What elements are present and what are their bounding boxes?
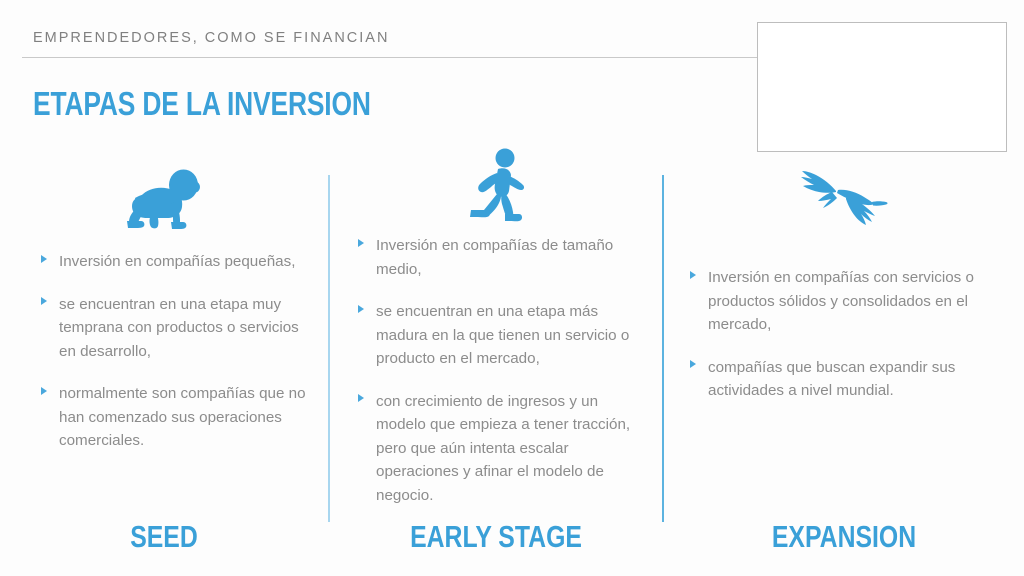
bullet-text: se encuentran en una etapa muy temprana …: [59, 296, 299, 360]
bullet-list-early-stage: Inversión en compañías de tamaño medio, …: [354, 234, 652, 507]
triangle-bullet-icon: [41, 255, 47, 263]
slide-eyebrow-heading: EMPRENDEDORES, COMO SE FINANCIAN: [33, 30, 389, 46]
bullet-text: se encuentran en una etapa más madura en…: [376, 303, 629, 367]
logo-placeholder-box: [757, 22, 1007, 152]
bullet-text: Inversión en compañías pequeñas,: [59, 253, 295, 270]
crawling-baby-icon: [0, 168, 328, 240]
page-title: ETAPAS DE LA INVERSION: [33, 85, 371, 123]
triangle-bullet-icon: [690, 360, 696, 368]
bullet-text: compañías que buscan expandir sus activi…: [708, 359, 955, 400]
list-item: compañías que buscan expandir sus activi…: [686, 356, 974, 403]
stage-label-early-stage: EARLY STAGE: [363, 519, 629, 555]
list-item: Inversión en compañías de tamaño medio,: [354, 234, 652, 281]
bullet-text: normalmente son compañías que no han com…: [59, 385, 306, 449]
triangle-bullet-icon: [41, 387, 47, 395]
bullet-text: Inversión en compañías con servicios o p…: [708, 269, 974, 333]
triangle-bullet-icon: [358, 305, 364, 313]
bullet-list-expansion: Inversión en compañías con servicios o p…: [686, 266, 974, 403]
triangle-bullet-icon: [358, 239, 364, 247]
list-item: Inversión en compañías con servicios o p…: [686, 266, 974, 337]
bullet-text: Inversión en compañías de tamaño medio,: [376, 237, 613, 278]
stage-column-seed: Inversión en compañías pequeñas, se encu…: [0, 168, 328, 453]
bullet-list-seed: Inversión en compañías pequeñas, se encu…: [37, 250, 310, 453]
list-item: con crecimiento de ingresos y un modelo …: [354, 390, 652, 508]
stage-column-early-stage: Inversión en compañías de tamaño medio, …: [330, 148, 662, 507]
triangle-bullet-icon: [690, 271, 696, 279]
list-item: se encuentran en una etapa muy temprana …: [37, 293, 310, 364]
list-item: se encuentran en una etapa más madura en…: [354, 300, 652, 371]
stage-label-expansion: EXPANSION: [700, 519, 988, 555]
running-person-icon: [330, 148, 662, 220]
bullet-text: con crecimiento de ingresos y un modelo …: [376, 393, 630, 504]
stage-column-expansion: Inversión en compañías con servicios o p…: [664, 168, 1024, 403]
header-divider-rule: [22, 57, 757, 58]
triangle-bullet-icon: [41, 297, 47, 305]
soaring-eagle-icon: [664, 168, 1024, 240]
list-item: normalmente son compañías que no han com…: [37, 382, 310, 453]
list-item: Inversión en compañías pequeñas,: [37, 250, 310, 274]
slide-canvas: EMPRENDEDORES, COMO SE FINANCIAN ETAPAS …: [0, 0, 1024, 576]
triangle-bullet-icon: [358, 394, 364, 402]
stage-label-seed: SEED: [33, 519, 295, 555]
